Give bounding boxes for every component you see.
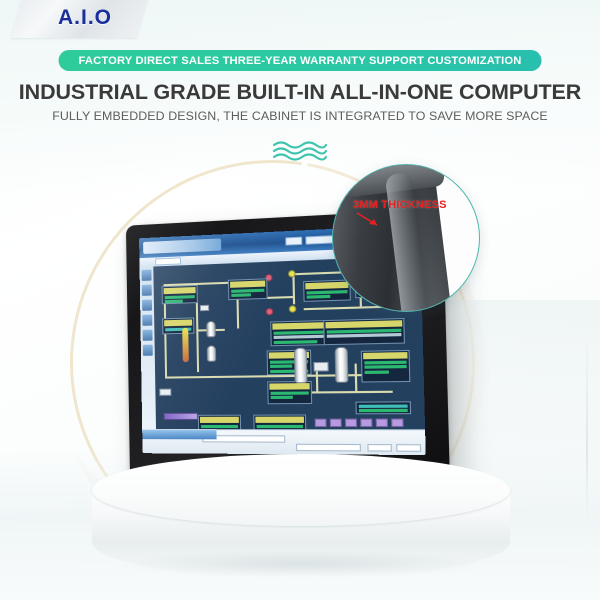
- control-box: [200, 305, 209, 311]
- thickness-callout-label: 3MM THICKNESS: [353, 199, 447, 211]
- panel-title: [200, 417, 239, 423]
- tank-vessel: [335, 347, 349, 383]
- podium-shadow: [116, 550, 488, 578]
- wave-divider-icon: [272, 140, 328, 164]
- data-panel: [355, 401, 411, 414]
- tank-vessel: [294, 348, 308, 384]
- panel-row: [359, 404, 408, 407]
- hmi-field: [285, 237, 302, 246]
- action-button: [376, 418, 388, 427]
- panel-row: [165, 300, 183, 304]
- page-subtitle: FULLY EMBEDDED DESIGN, THE CABINET IS IN…: [0, 109, 600, 123]
- panel-row: [165, 295, 195, 299]
- action-button: [360, 419, 372, 428]
- data-panel: [162, 317, 194, 334]
- tank-vessel: [206, 321, 215, 337]
- data-panel: [361, 350, 411, 383]
- panel-title: [164, 319, 192, 326]
- panel-title: [269, 383, 309, 390]
- data-panel: [228, 278, 268, 300]
- hmi-logo: [143, 238, 221, 254]
- control-box: [313, 362, 328, 372]
- tank-vessel: [207, 345, 216, 361]
- page-title: INDUSTRIAL GRADE BUILT-IN ALL-IN-ONE COM…: [0, 80, 600, 105]
- brand-logo: A.I.O: [30, 2, 140, 34]
- action-button: [391, 418, 403, 427]
- panel-row: [364, 360, 406, 364]
- magnifier-circle-icon: 3MM THICKNESS: [332, 164, 480, 312]
- rail-icon: [142, 315, 152, 326]
- panel-title: [255, 417, 304, 423]
- data-panel: [323, 318, 405, 345]
- promo-badge: FACTORY DIRECT SALES THREE-YEAR WARRANTY…: [59, 50, 542, 71]
- panel-row: [257, 424, 303, 427]
- pipe: [196, 301, 199, 372]
- action-button: [345, 419, 357, 427]
- panel-title: [363, 352, 407, 359]
- panel-title: [325, 320, 402, 328]
- panel-row: [365, 370, 389, 374]
- panel-title: [164, 287, 196, 294]
- vehicle-indicator: [164, 413, 198, 420]
- hmi-tab: [155, 257, 181, 265]
- arrow-pointer-icon: [355, 211, 389, 236]
- panel-row: [271, 396, 293, 399]
- background-vertical-stripe: [586, 330, 588, 580]
- panel-row: [364, 365, 406, 369]
- panel-row: [327, 333, 402, 338]
- action-button: [330, 419, 342, 427]
- pipe: [316, 368, 319, 391]
- level-gauge: [182, 328, 189, 362]
- panel-row: [307, 295, 330, 299]
- panel-row: [271, 391, 309, 394]
- pipe: [355, 364, 358, 391]
- valve-icon: [289, 305, 297, 312]
- data-panel: [267, 381, 312, 404]
- control-box: [159, 389, 171, 396]
- status-field: [396, 444, 421, 452]
- panel-row: [270, 365, 292, 368]
- hmi-taskbar: [142, 429, 216, 439]
- status-field: [367, 444, 392, 452]
- rail-icon: [143, 330, 153, 341]
- action-button: [315, 419, 327, 427]
- valve-icon: [266, 308, 273, 315]
- hmi-icon-rail: [140, 267, 156, 430]
- pipe: [292, 273, 295, 304]
- product-marketing-poster: A.I.O FACTORY DIRECT SALES THREE-YEAR WA…: [0, 0, 600, 600]
- rail-icon: [142, 300, 152, 311]
- display-podium: [92, 454, 510, 562]
- rail-icon: [142, 270, 152, 281]
- panel-row: [231, 293, 250, 297]
- status-field: [296, 444, 361, 452]
- data-panel: [162, 285, 198, 304]
- podium-top: [92, 454, 510, 526]
- rail-icon: [143, 345, 153, 356]
- panel-row: [274, 340, 317, 344]
- panel-title: [230, 280, 265, 287]
- rail-icon: [142, 285, 152, 296]
- panel-row: [231, 288, 264, 292]
- panel-row: [359, 409, 408, 412]
- panel-row: [201, 424, 238, 427]
